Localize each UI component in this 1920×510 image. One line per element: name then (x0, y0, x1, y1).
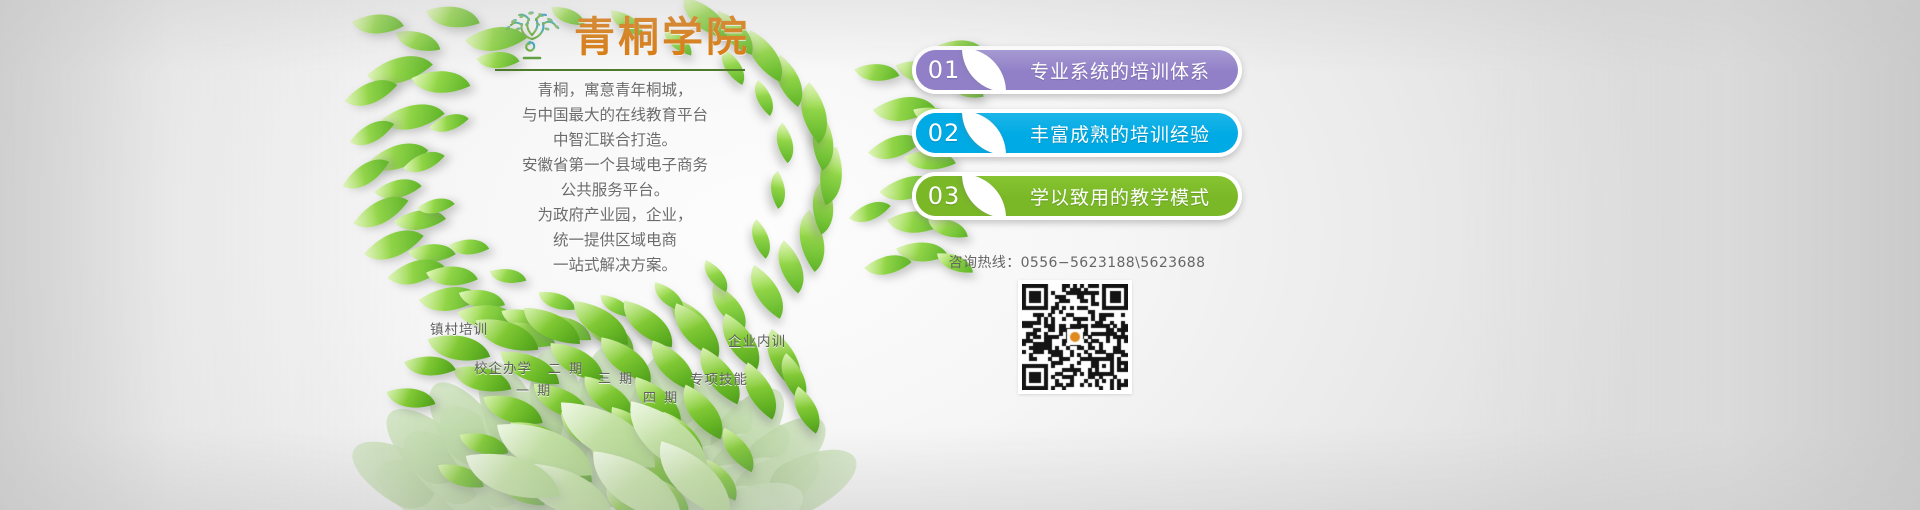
brand-logo-row: 青桐学院 (495, 8, 755, 66)
feature-badge-bar: 02丰富成熟的培训经验 (916, 113, 1238, 153)
intro-line: 安徽省第一个县域电子商务 (470, 153, 760, 178)
bottom-label: 四 期 (643, 387, 679, 406)
brand-title: 青桐学院 (574, 17, 750, 58)
brand-rule (495, 69, 745, 71)
intro-line: 青桐，寓意青年桐城， (470, 78, 760, 103)
intro-line: 公共服务平台。 (470, 178, 760, 203)
intro-line: 统一提供区域电商 (470, 228, 760, 253)
intro-line: 为政府产业园，企业， (470, 203, 760, 228)
qr-code-canvas (1022, 284, 1128, 390)
feature-badge-number: 01 (916, 50, 972, 90)
feature-badge[interactable]: 03学以致用的教学模式 (912, 172, 1242, 220)
leaf-shape (766, 123, 805, 163)
feature-badge[interactable]: 02丰富成熟的培训经验 (912, 109, 1242, 157)
intro-line: 一站式解决方案。 (470, 253, 760, 278)
leaf-shape (396, 24, 441, 58)
leaf-shape (761, 171, 795, 209)
feature-badge[interactable]: 01专业系统的培训体系 (912, 46, 1242, 94)
feature-badge-number: 02 (916, 113, 972, 153)
bottom-label: 三 期 (598, 368, 634, 387)
feature-badge-label: 学以致用的教学模式 (1012, 176, 1228, 216)
bottom-label: 专项技能 (690, 368, 748, 388)
bottom-label: 企业内训 (728, 330, 786, 350)
banner-root: 青桐学院 青桐，寓意青年桐城，与中国最大的在线教育平台中智汇联合打造。安徽省第一… (0, 0, 1920, 510)
leaf-shape (352, 1, 404, 46)
leaf-shape (426, 0, 479, 39)
bottom-label: 镇村培训 (430, 318, 488, 338)
leaf-shape (854, 53, 899, 92)
feature-badge-label: 丰富成熟的培训经验 (1012, 113, 1228, 153)
feature-badge-bar: 03学以致用的教学模式 (916, 176, 1238, 216)
bottom-label: 二 期 (548, 358, 584, 377)
intro-line: 中智汇联合打造。 (470, 128, 760, 153)
tree-icon (500, 8, 564, 67)
qr-code[interactable] (1018, 280, 1132, 394)
intro-paragraph: 青桐，寓意青年桐城，与中国最大的在线教育平台中智汇联合打造。安徽省第一个县域电子… (470, 78, 760, 278)
leaf-shape (381, 87, 444, 147)
bottom-label: 一 期 (516, 380, 552, 399)
feature-badge-list: 01专业系统的培训体系02丰富成熟的培训经验03学以致用的教学模式 (912, 46, 1242, 235)
bottom-label: 校企办学 (474, 357, 532, 377)
feature-badge-label: 专业系统的培训体系 (1012, 50, 1228, 90)
intro-line: 与中国最大的在线教育平台 (470, 103, 760, 128)
brand-logo-block: 青桐学院 (495, 8, 755, 71)
feature-badge-bar: 01专业系统的培训体系 (916, 50, 1238, 90)
hotline-text: 咨询热线：0556−5623188\5623688 (912, 252, 1242, 272)
feature-badge-number: 03 (916, 176, 972, 216)
